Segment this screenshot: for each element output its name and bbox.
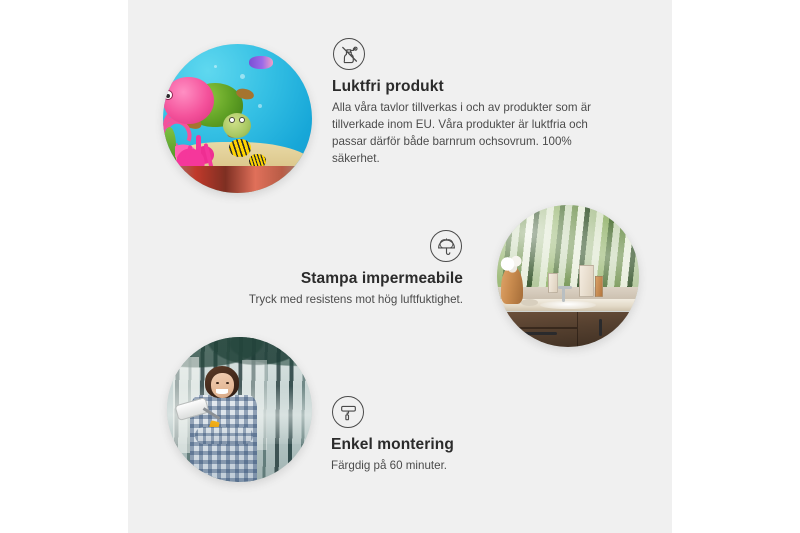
turtle-head [223,113,251,138]
woman-smile [216,389,228,393]
woman-crossed-arms [195,427,253,444]
feature-odour-free: Luktfri produkt Alla våra tavlor tillver… [332,38,622,168]
bottle-amber [595,276,604,297]
bathroom-wallpaper-photo [497,205,639,347]
feature-title: Enkel montering [331,436,601,454]
feature-title: Stampa impermeabile [185,270,463,288]
bottle-tall [579,265,593,298]
yellow-striped-fish [229,139,251,157]
woman-face [211,373,234,398]
feature-waterproof: Stampa impermeabile Tryck med resistens … [185,230,463,309]
umbrella-icon [430,230,462,262]
feature-body: Färgdig på 60 minuter. [331,458,601,475]
bubble [214,65,217,68]
feature-body: Alla våra tavlor tillverkas i och av pro… [332,100,622,168]
turtle-eye-right [239,117,245,123]
product-feature-infographic: Luktfri produkt Alla våra tavlor tillver… [0,0,800,533]
paint-roller-icon [332,396,364,428]
octopus-head [163,77,214,125]
purple-fish [249,56,273,69]
underwater-cartoon-photo [163,44,312,193]
faucet [562,286,565,302]
no-spray-bottle-icon [333,38,365,70]
soap-dish [521,299,538,306]
woman-paint-roller-forest-photo [167,337,312,482]
feature-body: Tryck med resistens mot hög luftfuktighe… [185,292,463,309]
wood-vanity [497,312,639,348]
bottle-small [548,273,558,293]
faucet-arm [558,286,572,289]
white-flowers [497,252,528,275]
turtle-eye-left [229,117,235,123]
photo-bottom-strip [163,166,312,193]
feature-title: Luktfri produkt [332,78,622,96]
feature-easy-mounting: Enkel montering Färgdig på 60 minuter. [331,396,601,475]
